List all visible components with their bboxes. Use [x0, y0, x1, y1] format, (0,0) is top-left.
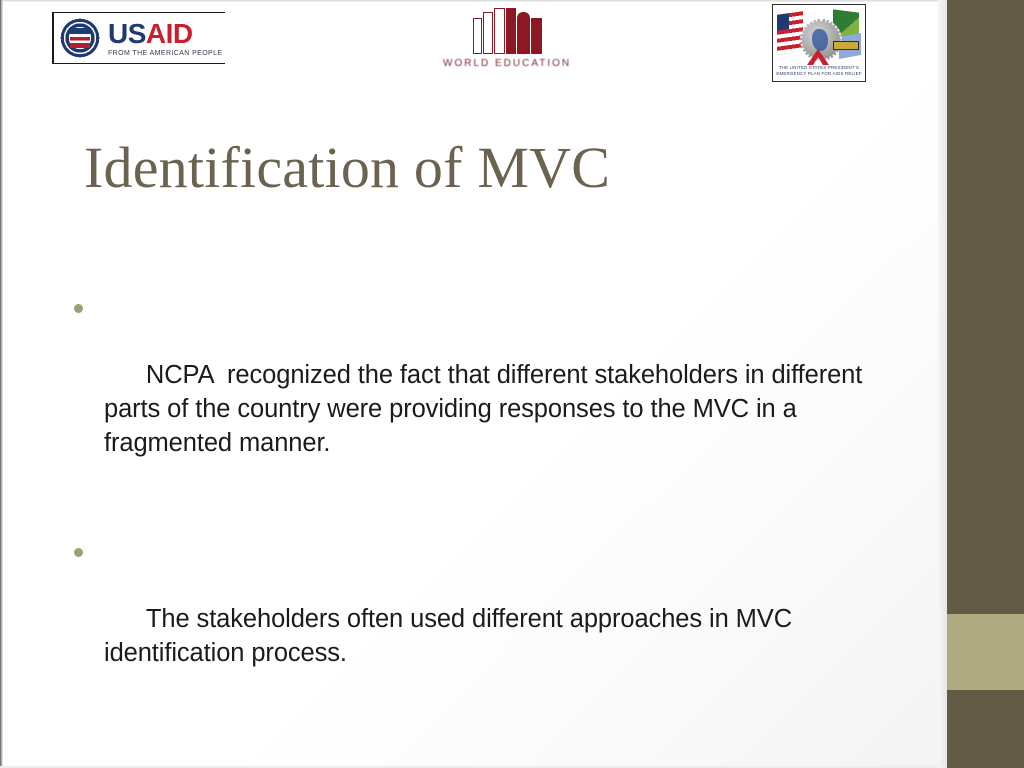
usaid-logo: USAID FROM THE AMERICAN PEOPLE — [52, 12, 225, 64]
pepfar-caption: THE UNITED STATES PRESIDENT'S EMERGENCY … — [773, 65, 865, 78]
right-accent-bar-bottom — [947, 690, 1024, 768]
right-bar-gutter — [938, 0, 947, 768]
usaid-word-aid: AID — [146, 18, 193, 49]
bullet-dot-icon — [74, 304, 83, 313]
pepfar-caption-line2: EMERGENCY PLAN FOR AIDS RELIEF — [773, 71, 865, 78]
usaid-wordmark: USAID — [108, 20, 223, 48]
slide-body: NCPA recognized the fact that different … — [64, 292, 904, 704]
right-accent-bar-light — [947, 614, 1024, 690]
world-education-logo: WORLD EDUCATION — [443, 8, 571, 69]
slide-title: Identification of MVC — [84, 136, 884, 200]
us-flag-icon — [777, 11, 803, 55]
list-item: The stakeholders often used different ap… — [64, 536, 904, 704]
slide-left-edge — [0, 0, 3, 768]
bullet-text: NCPA recognized the fact that different … — [104, 361, 869, 456]
list-item: NCPA recognized the fact that different … — [64, 292, 904, 494]
world-education-wordmark: WORLD EDUCATION — [443, 58, 571, 69]
right-accent-bar-top — [947, 0, 1024, 614]
banner-icon — [833, 41, 859, 50]
usaid-tagline: FROM THE AMERICAN PEOPLE — [108, 50, 223, 57]
usaid-word-us: US — [108, 18, 146, 49]
bullet-text: The stakeholders often used different ap… — [104, 605, 799, 667]
world-education-books-icon — [473, 8, 542, 54]
pepfar-logo: THE UNITED STATES PRESIDENT'S EMERGENCY … — [772, 4, 866, 82]
presentation-slide: USAID FROM THE AMERICAN PEOPLE WORLD EDU… — [0, 0, 1024, 768]
pepfar-caption-line1: THE UNITED STATES PRESIDENT'S — [773, 65, 865, 72]
usaid-seal-icon — [58, 16, 102, 60]
bullet-dot-icon — [74, 548, 83, 557]
logo-row: USAID FROM THE AMERICAN PEOPLE WORLD EDU… — [0, 0, 947, 92]
